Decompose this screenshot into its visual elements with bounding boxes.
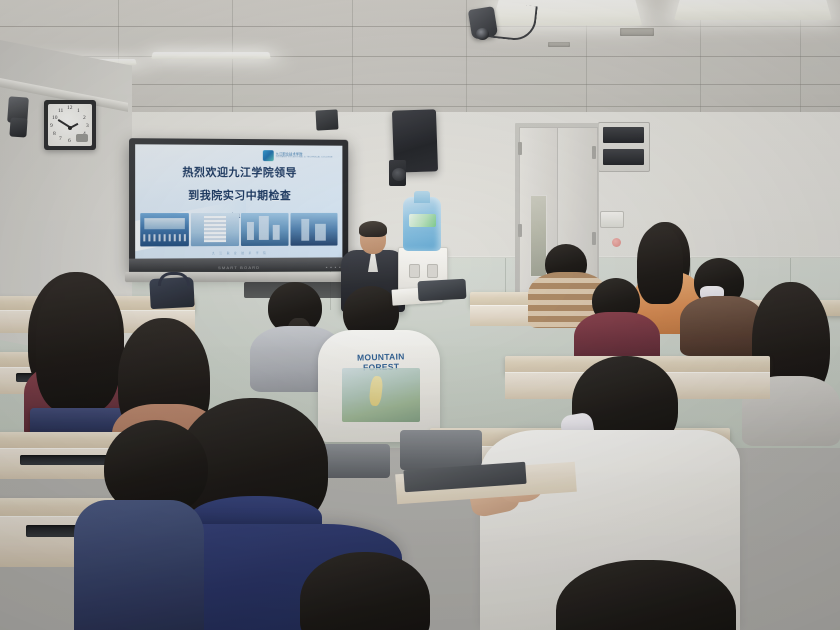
slide-photo-white-building bbox=[191, 213, 239, 246]
water-bottle-label bbox=[409, 214, 436, 227]
water-bottle-neck bbox=[414, 191, 430, 203]
wall-speaker-box bbox=[315, 109, 338, 130]
clock-numeral: 9 bbox=[50, 124, 53, 130]
bag-on-front-desk bbox=[418, 279, 467, 301]
clock-numeral: 12 bbox=[67, 106, 73, 112]
ceiling-vent bbox=[548, 42, 570, 47]
security-camera-head-icon bbox=[9, 117, 27, 137]
ceiling-light-panel bbox=[151, 52, 271, 59]
slide-headline-1: 热烈欢迎九江学院领导 bbox=[135, 163, 342, 180]
foreground-left-torso bbox=[74, 500, 204, 630]
clock-numeral: 11 bbox=[58, 109, 63, 115]
presentation-display[interactable]: 九江职业技术学院 JIUJIANG VOCATIONAL & TECHNICAL… bbox=[129, 138, 348, 273]
clock-numeral: 6 bbox=[68, 139, 71, 145]
ceiling-camera-lens-icon bbox=[476, 28, 489, 40]
ceiling-vent bbox=[620, 28, 654, 36]
clock-numeral: 7 bbox=[59, 137, 62, 143]
wall-clock: 12 1 2 3 4 5 6 7 8 9 10 11 bbox=[44, 100, 96, 150]
wall-vent-grille bbox=[598, 122, 650, 172]
clock-numeral: 1 bbox=[77, 109, 80, 115]
display-brand-label: SMART BOARD bbox=[218, 265, 260, 270]
clock-face: 12 1 2 3 4 5 6 7 8 9 10 11 bbox=[48, 104, 92, 146]
display-control-indicators: • • • • bbox=[326, 264, 342, 269]
clock-numeral: 3 bbox=[86, 124, 89, 130]
slide-photo-city-dusk bbox=[291, 213, 338, 246]
slide-footer-text: 九 江 职 业 技 术 学 院 bbox=[135, 250, 342, 255]
backpack-strap bbox=[158, 272, 190, 286]
display-bezel-bar: SMART BOARD • • • • bbox=[129, 257, 348, 273]
slide-logo: 九江职业技术学院 JIUJIANG VOCATIONAL & TECHNICAL… bbox=[263, 150, 333, 161]
slide-photo-city-day bbox=[241, 213, 289, 246]
display-screen: 九江职业技术学院 JIUJIANG VOCATIONAL & TECHNICAL… bbox=[135, 144, 342, 258]
clock-center-pin bbox=[68, 126, 72, 130]
slide-headline-2: 到我院实习中期检查 bbox=[135, 187, 342, 203]
clock-numeral: 8 bbox=[53, 132, 56, 138]
slide-photo-strip bbox=[140, 213, 337, 247]
ceiling-camera-cable bbox=[490, 2, 538, 42]
slide-photo-campus-group bbox=[140, 213, 189, 246]
presenter-hair bbox=[359, 221, 387, 237]
clock-logo bbox=[76, 134, 88, 142]
logo-subtitle: JIUJIANG VOCATIONAL & TECHNICAL COLLEGE bbox=[276, 156, 333, 159]
speaker-knob bbox=[392, 168, 406, 181]
light-switch[interactable] bbox=[600, 211, 624, 228]
chair-gray[interactable] bbox=[400, 430, 482, 470]
ceiling-light-panel bbox=[674, 0, 832, 20]
wall-marker-dot bbox=[612, 238, 621, 247]
clock-numeral: 2 bbox=[83, 116, 86, 122]
slide-logo-text: 九江职业技术学院 JIUJIANG VOCATIONAL & TECHNICAL… bbox=[276, 152, 333, 159]
classroom-photo: 12 1 2 3 4 5 6 7 8 9 10 11 bbox=[0, 0, 840, 630]
college-logo-icon bbox=[263, 150, 274, 161]
